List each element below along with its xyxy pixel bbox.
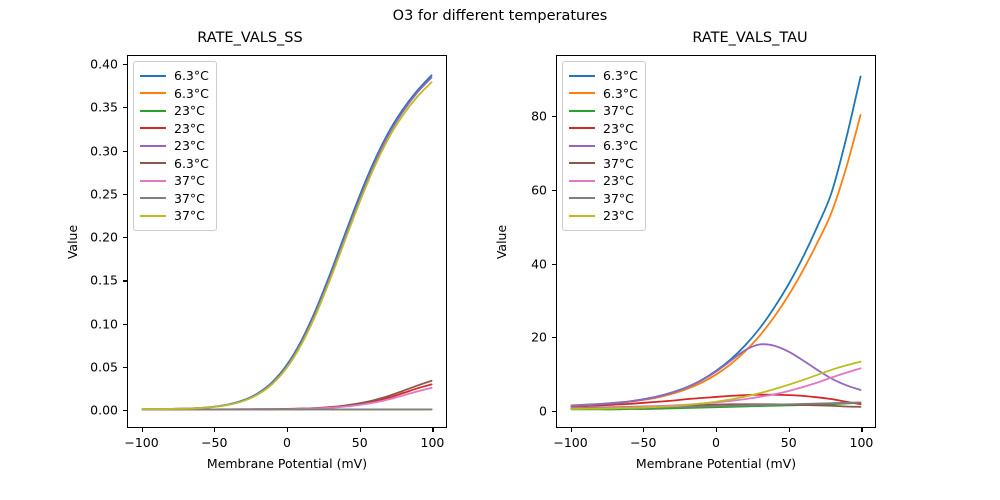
legend-entry[interactable]: 6.3°C [140,67,209,85]
x-tick-mark [861,428,862,432]
y-tick-mark [123,107,127,108]
legend-entry[interactable]: 23°C [140,102,209,120]
legend-color-swatch [569,215,595,217]
x-tick-label: 50 [781,435,797,450]
y-tick-label: 0.05 [0,359,118,374]
x-tick-mark [287,428,288,432]
y-tick-mark [552,264,556,265]
legend-color-swatch [140,215,166,217]
legend-entry[interactable]: 37°C [140,172,209,190]
y-axis-label-tau: Value [494,224,509,258]
x-tick-label: −50 [630,435,656,450]
legend-label: 37°C [603,103,634,118]
subplot-title-ss: RATE_VALS_SS [0,30,500,46]
y-tick-label: 0.30 [0,143,118,158]
legend-entry[interactable]: 23°C [140,120,209,138]
x-tick-mark [643,428,644,432]
legend-label: 23°C [174,103,205,118]
y-tick-label: 60 [500,182,547,197]
x-tick-mark [716,428,717,432]
legend-label: 23°C [603,173,634,188]
subplot-rate-vals-tau: RATE_VALS_TAU Value Membrane Potential (… [500,0,1000,500]
legend-color-swatch [569,110,595,112]
x-tick-label: 100 [850,435,874,450]
x-tick-mark [214,428,215,432]
legend-label: 6.3°C [603,138,638,153]
legend-color-swatch [569,197,595,199]
x-tick-label: 50 [352,435,368,450]
legend-entry[interactable]: 6.3°C [569,85,638,103]
y-tick-mark [552,337,556,338]
y-tick-mark [123,280,127,281]
legend-label: 37°C [174,191,205,206]
y-tick-label: 0.40 [0,57,118,72]
x-tick-label: 0 [283,435,291,450]
legend-entry[interactable]: 37°C [569,102,638,120]
legend-color-swatch [569,75,595,77]
legend-color-swatch [140,92,166,94]
x-axis-label-ss: Membrane Potential (mV) [127,456,447,471]
y-tick-mark [123,237,127,238]
legend-entry[interactable]: 6.3°C [569,137,638,155]
legend-entry[interactable]: 6.3°C [140,155,209,173]
legend-label: 6.3°C [174,68,209,83]
legend-entry[interactable]: 23°C [140,137,209,155]
legend-color-swatch [140,197,166,199]
legend-entry[interactable]: 6.3°C [140,85,209,103]
legend-entry[interactable]: 23°C [569,172,638,190]
subplot-rate-vals-ss: RATE_VALS_SS Value Membrane Potential (m… [0,0,500,500]
x-tick-mark [571,428,572,432]
legend-color-swatch [140,127,166,129]
legend-label: 37°C [174,173,205,188]
y-tick-label: 80 [500,109,547,124]
x-axis-label-tau: Membrane Potential (mV) [556,456,876,471]
legend-color-swatch [140,162,166,164]
y-tick-mark [552,411,556,412]
legend-color-swatch [140,145,166,147]
legend-label: 6.3°C [174,156,209,171]
y-tick-mark [552,190,556,191]
x-tick-mark [789,428,790,432]
y-tick-mark [552,116,556,117]
legend-label: 6.3°C [603,68,638,83]
legend-entry[interactable]: 23°C [569,207,638,225]
legend-label: 37°C [603,156,634,171]
x-tick-label: −50 [201,435,227,450]
legend-ss[interactable]: 6.3°C6.3°C23°C23°C23°C6.3°C37°C37°C37°C [133,61,217,231]
data-series-line [142,381,431,410]
y-tick-label: 20 [500,330,547,345]
legend-color-swatch [140,75,166,77]
x-tick-label: −100 [553,435,587,450]
x-tick-label: 0 [712,435,720,450]
legend-label: 23°C [603,121,634,136]
x-tick-mark [142,428,143,432]
legend-label: 23°C [174,121,205,136]
y-tick-mark [123,151,127,152]
y-tick-label: 0.20 [0,230,118,245]
y-tick-mark [123,194,127,195]
legend-label: 23°C [603,208,634,223]
legend-entry[interactable]: 37°C [569,155,638,173]
x-tick-mark [360,428,361,432]
y-tick-label: 0.35 [0,100,118,115]
legend-entry[interactable]: 37°C [569,190,638,208]
y-tick-label: 40 [500,256,547,271]
y-tick-label: 0.00 [0,403,118,418]
legend-label: 6.3°C [174,86,209,101]
legend-color-swatch [569,92,595,94]
legend-entry[interactable]: 37°C [140,207,209,225]
legend-label: 23°C [174,138,205,153]
x-tick-mark [432,428,433,432]
legend-label: 6.3°C [603,86,638,101]
y-tick-label: 0 [500,404,547,419]
legend-color-swatch [140,110,166,112]
y-tick-mark [123,324,127,325]
legend-label: 37°C [174,208,205,223]
y-tick-mark [123,410,127,411]
legend-color-swatch [569,127,595,129]
y-tick-label: 0.15 [0,273,118,288]
matplotlib-figure: O3 for different temperatures RATE_VALS_… [0,0,1000,500]
y-tick-label: 0.25 [0,186,118,201]
legend-entry[interactable]: 37°C [140,190,209,208]
y-tick-mark [123,64,127,65]
legend-color-swatch [569,145,595,147]
y-tick-label: 0.10 [0,316,118,331]
legend-color-swatch [140,180,166,182]
legend-tau[interactable]: 6.3°C6.3°C37°C23°C6.3°C37°C23°C37°C23°C [562,61,646,231]
legend-color-swatch [569,180,595,182]
legend-entry[interactable]: 23°C [569,120,638,138]
legend-label: 37°C [603,191,634,206]
subplot-title-tau: RATE_VALS_TAU [500,30,1000,46]
x-tick-label: 100 [421,435,445,450]
x-tick-label: −100 [124,435,158,450]
y-tick-mark [123,367,127,368]
legend-entry[interactable]: 6.3°C [569,67,638,85]
legend-color-swatch [569,162,595,164]
